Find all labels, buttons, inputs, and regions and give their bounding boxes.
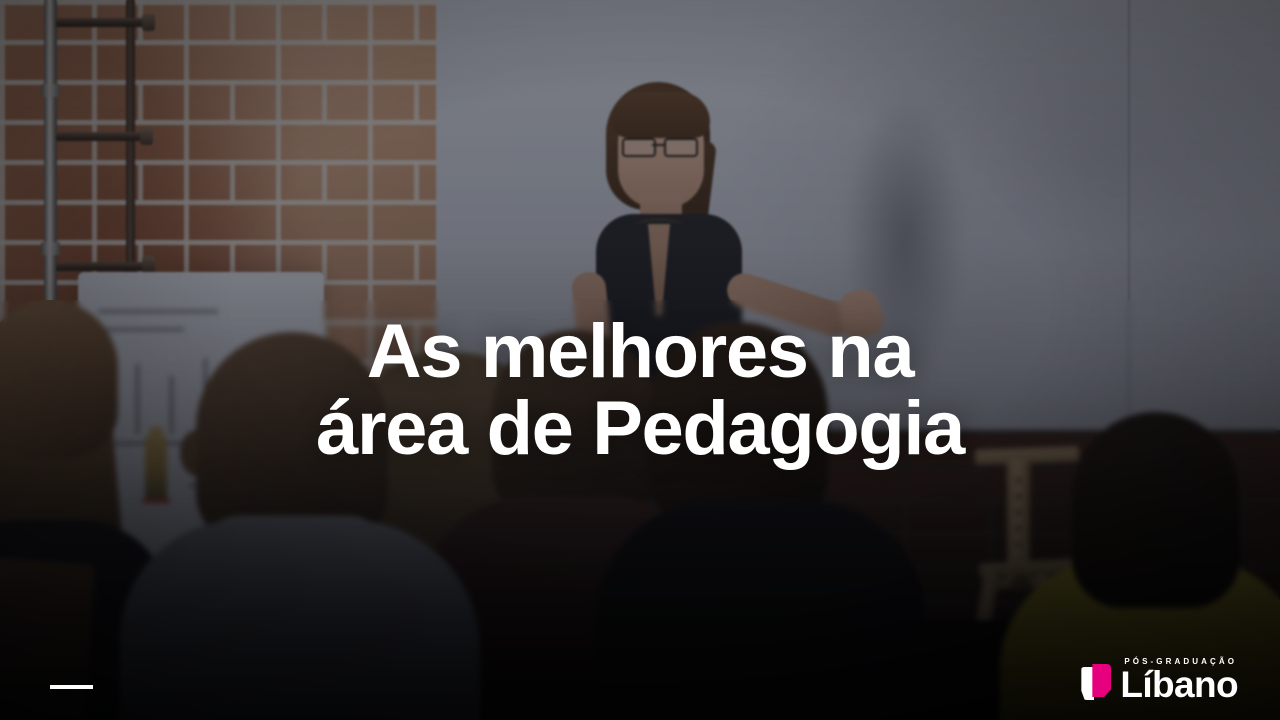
audience-person-grey-body bbox=[120, 520, 480, 720]
headline: As melhores na área de Pedagogia bbox=[0, 313, 1280, 468]
book-mark-icon bbox=[1081, 664, 1111, 702]
pipe-collar bbox=[41, 84, 60, 97]
accent-rule bbox=[50, 685, 93, 689]
presenter-glasses bbox=[622, 138, 700, 153]
headline-line-1: As melhores na bbox=[40, 313, 1240, 391]
presenter-necklace bbox=[636, 218, 682, 233]
pipe-horizontal bbox=[56, 18, 152, 27]
pipe-cap bbox=[142, 14, 155, 31]
pipe-cap bbox=[142, 256, 155, 273]
logo-text: PÓS-GRADUAÇÃO Líbano bbox=[1120, 658, 1238, 702]
pipe-horizontal bbox=[56, 262, 148, 271]
audience-person-right-body bbox=[596, 500, 926, 720]
promo-slide: As melhores na área de Pedagogia PÓS-GRA… bbox=[0, 0, 1280, 720]
logo-wordmark: Líbano bbox=[1120, 668, 1238, 702]
presenter-hair-front bbox=[612, 92, 710, 138]
headline-line-2: área de Pedagogia bbox=[40, 390, 1240, 468]
audience-chair bbox=[0, 556, 95, 720]
pipe-horizontal bbox=[56, 132, 144, 141]
pipe-collar bbox=[41, 242, 60, 255]
pipe-cap bbox=[140, 128, 153, 145]
libano-logo: PÓS-GRADUAÇÃO Líbano bbox=[1081, 658, 1238, 702]
